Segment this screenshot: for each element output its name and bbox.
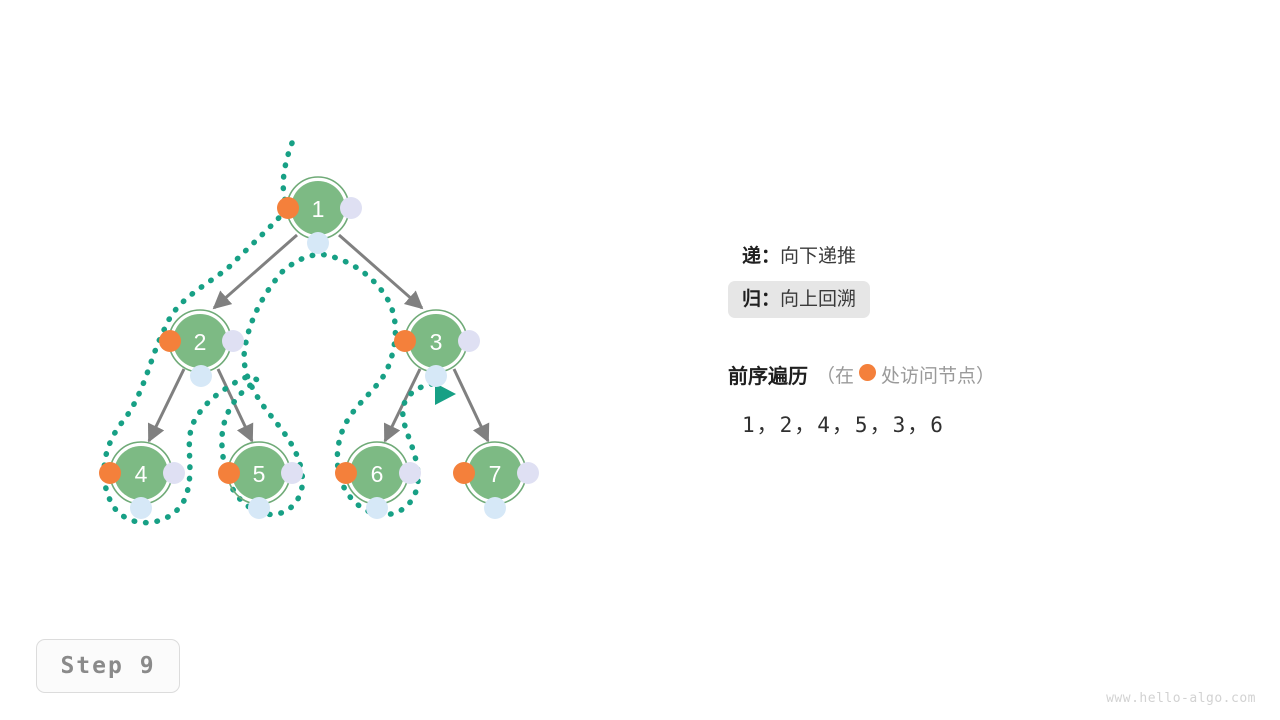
- node-bottom-dot: [307, 232, 329, 254]
- tree-node-7[interactable]: 7: [453, 442, 539, 519]
- edge-1-3: [339, 235, 422, 308]
- tree-nodes: 1 2 3 4: [99, 177, 539, 519]
- traversal-heading: 前序遍历（在处访问节点）: [728, 360, 1248, 389]
- legend-row-recurse: 递：向下递推: [728, 238, 870, 275]
- node-bottom-dot: [130, 497, 152, 519]
- traversal-sequence: 1，2，4，5，3，6: [742, 409, 1248, 439]
- node-visit-dot: [159, 330, 181, 352]
- node-label: 2: [194, 329, 207, 355]
- visit-marker-dot-icon: [859, 364, 876, 381]
- node-visit-dot: [453, 462, 475, 484]
- node-visit-dot: [99, 462, 121, 484]
- node-right-dot: [399, 462, 421, 484]
- node-label: 5: [253, 461, 266, 487]
- legend-key-return: 归：: [742, 289, 780, 310]
- edge-3-6: [385, 369, 420, 441]
- node-label: 4: [135, 461, 148, 487]
- tree-node-4[interactable]: 4: [99, 442, 185, 519]
- legend-row-recurse-wrap: 递：向下递推: [728, 238, 1248, 275]
- node-bottom-dot: [248, 497, 270, 519]
- node-bottom-dot: [484, 497, 506, 519]
- traversal-note-before: （在: [816, 361, 854, 388]
- step-badge: Step 9: [36, 639, 180, 693]
- legend-row-return-wrap: 归：向上回溯: [728, 281, 1248, 318]
- traversal-title: 前序遍历: [728, 360, 808, 389]
- node-label: 7: [489, 461, 502, 487]
- node-right-dot: [163, 462, 185, 484]
- node-bottom-dot: [366, 497, 388, 519]
- legend-row-return: 归：向上回溯: [728, 281, 870, 318]
- recursion-legend: 递：向下递推 归：向上回溯: [728, 238, 1248, 318]
- node-right-dot: [340, 197, 362, 219]
- node-visit-dot: [277, 197, 299, 219]
- node-right-dot: [281, 462, 303, 484]
- traversal-info: 前序遍历（在处访问节点） 1，2，4，5，3，6: [728, 360, 1248, 439]
- tree-node-3[interactable]: 3: [394, 310, 480, 387]
- node-right-dot: [222, 330, 244, 352]
- node-label: 3: [430, 329, 443, 355]
- node-label: 6: [371, 461, 384, 487]
- tree-node-2[interactable]: 2: [159, 310, 244, 387]
- node-bottom-dot: [190, 365, 212, 387]
- legend-value-return: 向上回溯: [780, 289, 856, 310]
- legend-key-recurse: 递：: [742, 246, 780, 267]
- edge-2-4: [149, 369, 184, 441]
- node-visit-dot: [394, 330, 416, 352]
- node-bottom-dot: [425, 365, 447, 387]
- node-visit-dot: [218, 462, 240, 484]
- node-label: 1: [312, 196, 325, 222]
- tree-node-6[interactable]: 6: [335, 442, 421, 519]
- node-right-dot: [517, 462, 539, 484]
- traversal-note-after: 处访问节点）: [881, 361, 995, 388]
- node-right-dot: [458, 330, 480, 352]
- legend-value-recurse: 向下递推: [780, 246, 856, 267]
- node-visit-dot: [335, 462, 357, 484]
- edge-3-7: [454, 369, 488, 441]
- watermark: www.hello-algo.com: [1106, 691, 1256, 706]
